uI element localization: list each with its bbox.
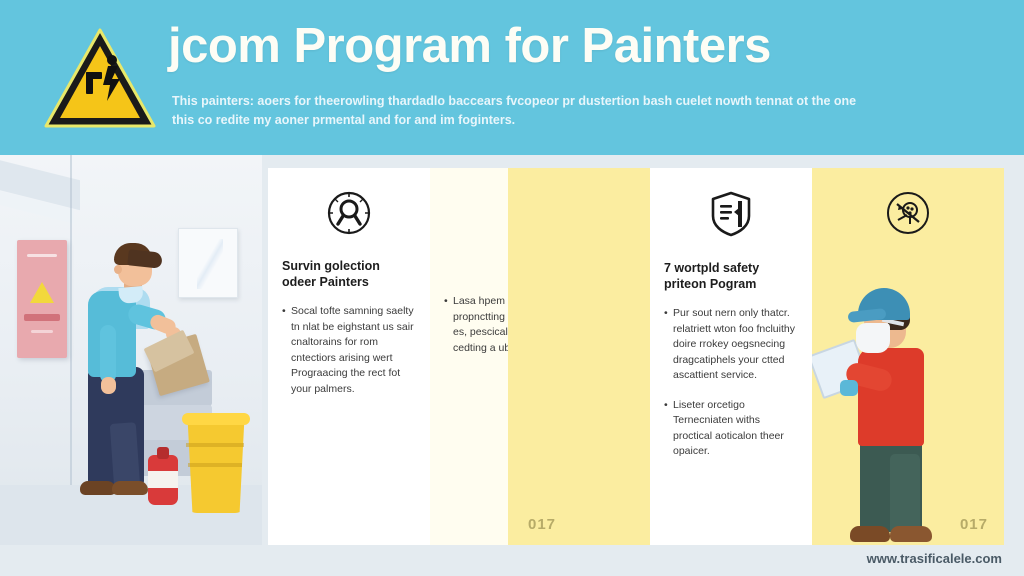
column-1: Survin golection odeer Painters • Socal … [268,168,430,545]
shield-document-icon [664,190,798,238]
worker2-shoe [890,526,932,542]
worker-cap [127,249,162,268]
yellow-bucket-rim [182,413,250,425]
bullet-dot: • [444,294,453,356]
worker2-jacket [858,348,924,446]
wall-frame [178,228,238,298]
safety-poster [17,240,67,358]
footer-url[interactable]: www.trasificalele.com [867,551,1002,566]
bullet-text: Pur sout nern only thatcr. relatriett wt… [673,306,798,384]
header-subtitle: This painters: aoers for theerowling tha… [172,92,872,130]
content-columns: Survin golection odeer Painters • Socal … [268,168,1004,545]
red-jug-neck [157,447,169,459]
column-2: • Lasa hpem ectoonatte with hrsates and … [430,168,508,545]
red-jug-label [148,471,178,488]
worker2-face-mask [856,323,890,353]
column-4: 7 wortpld safety priteon Pogram • Pur so… [650,168,812,545]
worker-hand [101,377,116,394]
bullet-text: Socal tofte samning saelty tn nlat be ei… [291,304,416,397]
bullet-dot: • [664,398,673,460]
column-1-bullet: • Socal tofte samning saelty tn nlat be … [282,304,416,397]
respirator-mask-circle-icon [282,190,416,236]
no-dust-hazard-circle-icon [826,190,990,236]
page-number-left: 017 [528,516,556,533]
poster-header: jcom Program for Painters This painters:… [0,0,1024,155]
page-number-right: 017 [960,516,988,533]
bullet-dot: • [282,304,291,397]
worker-ear [114,265,122,274]
yellow-bucket-ridge [186,443,244,447]
poster-footer: www.trasificalele.com [0,545,1024,576]
column-4-bullet-2: • Liseter orcetigo Ternecniaten withs pr… [664,398,798,460]
bullet-dot: • [664,306,673,384]
infographic-poster: jcom Program for Painters This painters:… [0,0,1024,576]
warning-triangle-icon [42,26,158,132]
page-title: jcom Program for Painters [168,18,771,74]
painter-handling-box-illustration [0,155,262,545]
bullet-text: Liseter orcetigo Ternecniaten withs proc… [673,398,798,460]
worker-leg [110,422,141,490]
worker2-leg [890,454,920,534]
poster-title-line [24,314,60,321]
column-1-title: Survin golection odeer Painters [282,258,416,290]
worker-shoe [112,481,148,495]
column-5: 017 [812,168,1004,545]
worker-shoe [80,481,116,495]
column-4-title: 7 wortpld safety priteon Pogram [664,260,798,292]
worker-arm [100,325,116,383]
column-3: 017 [508,168,650,545]
worker2-glove [840,380,858,396]
poster-subtitle-line [31,330,53,333]
poster-heading-line [27,254,57,257]
worker2-shoe [850,526,890,542]
poster-warning-triangle-icon [30,282,54,303]
yellow-bucket-ridge [188,463,242,467]
column-4-bullet-1: • Pur sout nern only thatcr. relatriett … [664,306,798,384]
